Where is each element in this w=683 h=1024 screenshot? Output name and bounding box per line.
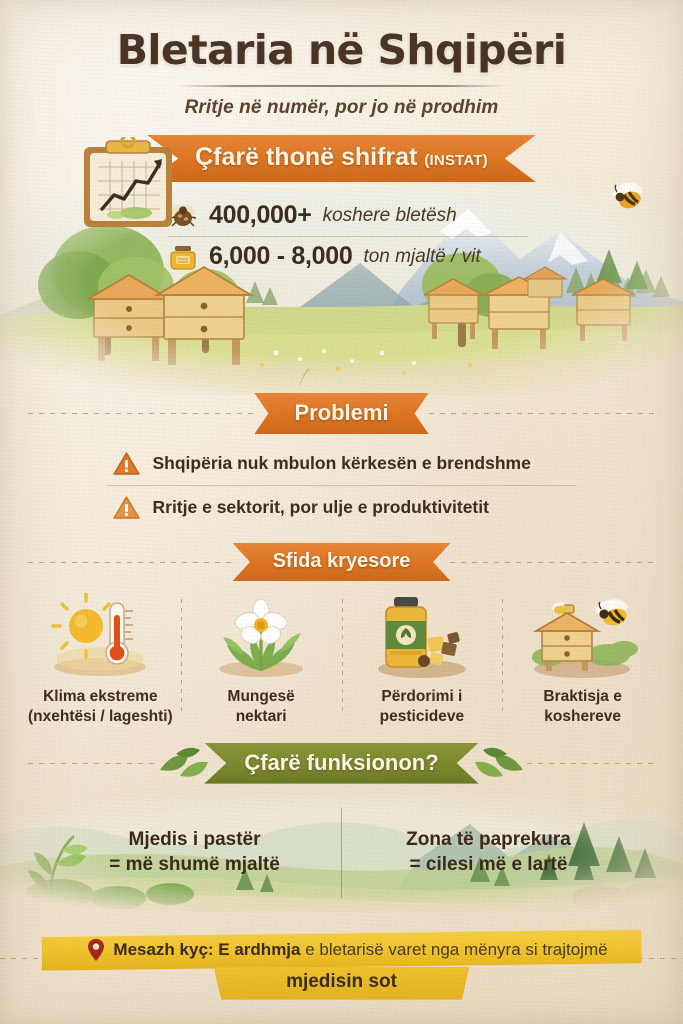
works-line1: Zona të paprekura: [406, 829, 571, 850]
works-section: Çfarë funksionon?: [0, 743, 683, 912]
footer-rest: e bletarisë varet nga mënyra si trajtojm…: [305, 940, 607, 959]
challenge-item: Braktisja e koshereve: [502, 593, 663, 727]
divider-left: [28, 763, 156, 764]
footer-banner: Mesazh kyç: E ardhmja e bletarisë varet …: [42, 930, 642, 971]
works-columns: Mjedis i pastër = më shumë mjaltë Zona t…: [0, 794, 683, 912]
challenge-line1: Mungesë: [228, 688, 295, 705]
divider-right: [429, 413, 655, 414]
page-subtitle: Rritje në numër, por jo në prodhim: [0, 97, 683, 119]
problem-text: Rritje e sektorit, por ulje e produktivi…: [153, 497, 489, 518]
works-column: Mjedis i pastër = më shumë mjaltë: [48, 828, 341, 877]
page-title: Bletaria në Shqipëri: [0, 26, 683, 74]
flying-bee-icon: [609, 181, 647, 211]
stat-label: koshere bletësh: [323, 205, 457, 227]
problem-section: Problemi Shqipëria nuk mbulon kërkesën e…: [0, 393, 683, 529]
problem-item: Rritje e sektorit, por ulje e produktivi…: [107, 485, 577, 529]
challenge-caption: Klima ekstreme (nxehtësi / lageshti): [24, 687, 177, 727]
pesticide-bottle-icon: [346, 593, 499, 679]
challenge-line1: Përdorimi i: [381, 688, 462, 705]
problem-text: Shqipëria nuk mbulon kërkesën e brendshm…: [153, 453, 531, 474]
beehive-bee-icon: [506, 593, 659, 679]
challenge-line2: (nxehtësi / lageshti): [28, 708, 173, 725]
works-column: Zona të paprekura = cilesi më e lartë: [342, 828, 635, 877]
works-banner-label: Çfarë funksionon?: [244, 750, 438, 775]
stats-section: Çfarë thonë shifrat (INSTAT): [0, 135, 683, 395]
challenges-banner-label: Sfida kryesore: [273, 550, 411, 572]
problem-list: Shqipëria nuk mbulon kërkesën e brendshm…: [107, 442, 577, 529]
challenge-line2: pesticideve: [380, 708, 464, 725]
works-banner: Çfarë funksionon?: [204, 743, 478, 784]
divider-left: [28, 562, 233, 563]
stats-banner-source: (INSTAT): [424, 152, 488, 169]
challenges-section: Sfida kryesore: [0, 543, 683, 727]
location-pin-icon: [87, 938, 105, 962]
challenge-line1: Klima ekstreme: [43, 688, 158, 705]
works-line1: Mjedis i pastër: [129, 829, 261, 850]
stat-value: 400,000+: [209, 201, 312, 230]
challenge-caption: Mungesë nektari: [185, 687, 338, 727]
challenge-item: Përdorimi i pesticideve: [342, 593, 503, 727]
problem-banner-label: Problemi: [294, 400, 388, 425]
footer-lead: Mesazh kyç: E ardhmja: [113, 940, 300, 959]
footer-banner-line2: mjedisin sot: [214, 967, 470, 1000]
problem-banner: Problemi: [254, 393, 428, 434]
works-line2: = më shumë mjaltë: [48, 853, 341, 878]
challenge-caption: Braktisja e koshereve: [506, 687, 659, 727]
works-line2: = cilesi më e lartë: [342, 853, 635, 878]
clipboard-chart-icon: [76, 137, 180, 233]
leaf-decor-left-icon: [156, 746, 214, 780]
header: Bletaria në Shqipëri Rritje në numër, po…: [0, 0, 683, 119]
sun-thermometer-icon: [24, 593, 177, 679]
honey-jar-icon: [168, 243, 198, 271]
challenge-item: Mungesë nektari: [181, 593, 342, 727]
footer-text: Mesazh kyç: E ardhmja e bletarisë varet …: [113, 940, 607, 960]
divider-left: [28, 413, 254, 414]
stats-banner: Çfarë thonë shifrat (INSTAT): [147, 135, 536, 182]
flower-icon: [185, 593, 338, 679]
infographic-page: Bletaria në Shqipëri Rritje në numër, po…: [0, 0, 683, 1024]
title-divider: [177, 85, 507, 87]
challenge-item: Klima ekstreme (nxehtësi / lageshti): [20, 593, 181, 727]
divider-right: [450, 562, 655, 563]
challenges-grid: Klima ekstreme (nxehtësi / lageshti): [20, 593, 663, 727]
challenge-line2: koshereve: [544, 708, 621, 725]
footer-message: Mesazh kyç: E ardhmja e bletarisë varet …: [0, 930, 683, 1004]
stat-row: 6,000 - 8,000 ton mjaltë / vit: [168, 236, 528, 277]
challenge-line2: nektari: [236, 708, 287, 725]
challenges-banner: Sfida kryesore: [233, 543, 451, 581]
stat-label: ton mjaltë / vit: [363, 246, 480, 268]
warning-icon: [113, 495, 140, 520]
challenge-line1: Braktisja e: [543, 688, 621, 705]
warning-icon: [113, 451, 140, 476]
stats-banner-label: Çfarë thonë shifrat: [195, 143, 417, 171]
stat-value: 6,000 - 8,000: [209, 242, 352, 271]
divider-right: [527, 763, 655, 764]
challenge-caption: Përdorimi i pesticideve: [346, 687, 499, 727]
leaf-decor-right-icon: [469, 746, 527, 780]
problem-item: Shqipëria nuk mbulon kërkesën e brendshm…: [107, 442, 577, 485]
stats-list: 400,000+ koshere bletësh 6,000 - 8,000 t…: [168, 196, 528, 277]
stat-row: 400,000+ koshere bletësh: [168, 196, 528, 236]
